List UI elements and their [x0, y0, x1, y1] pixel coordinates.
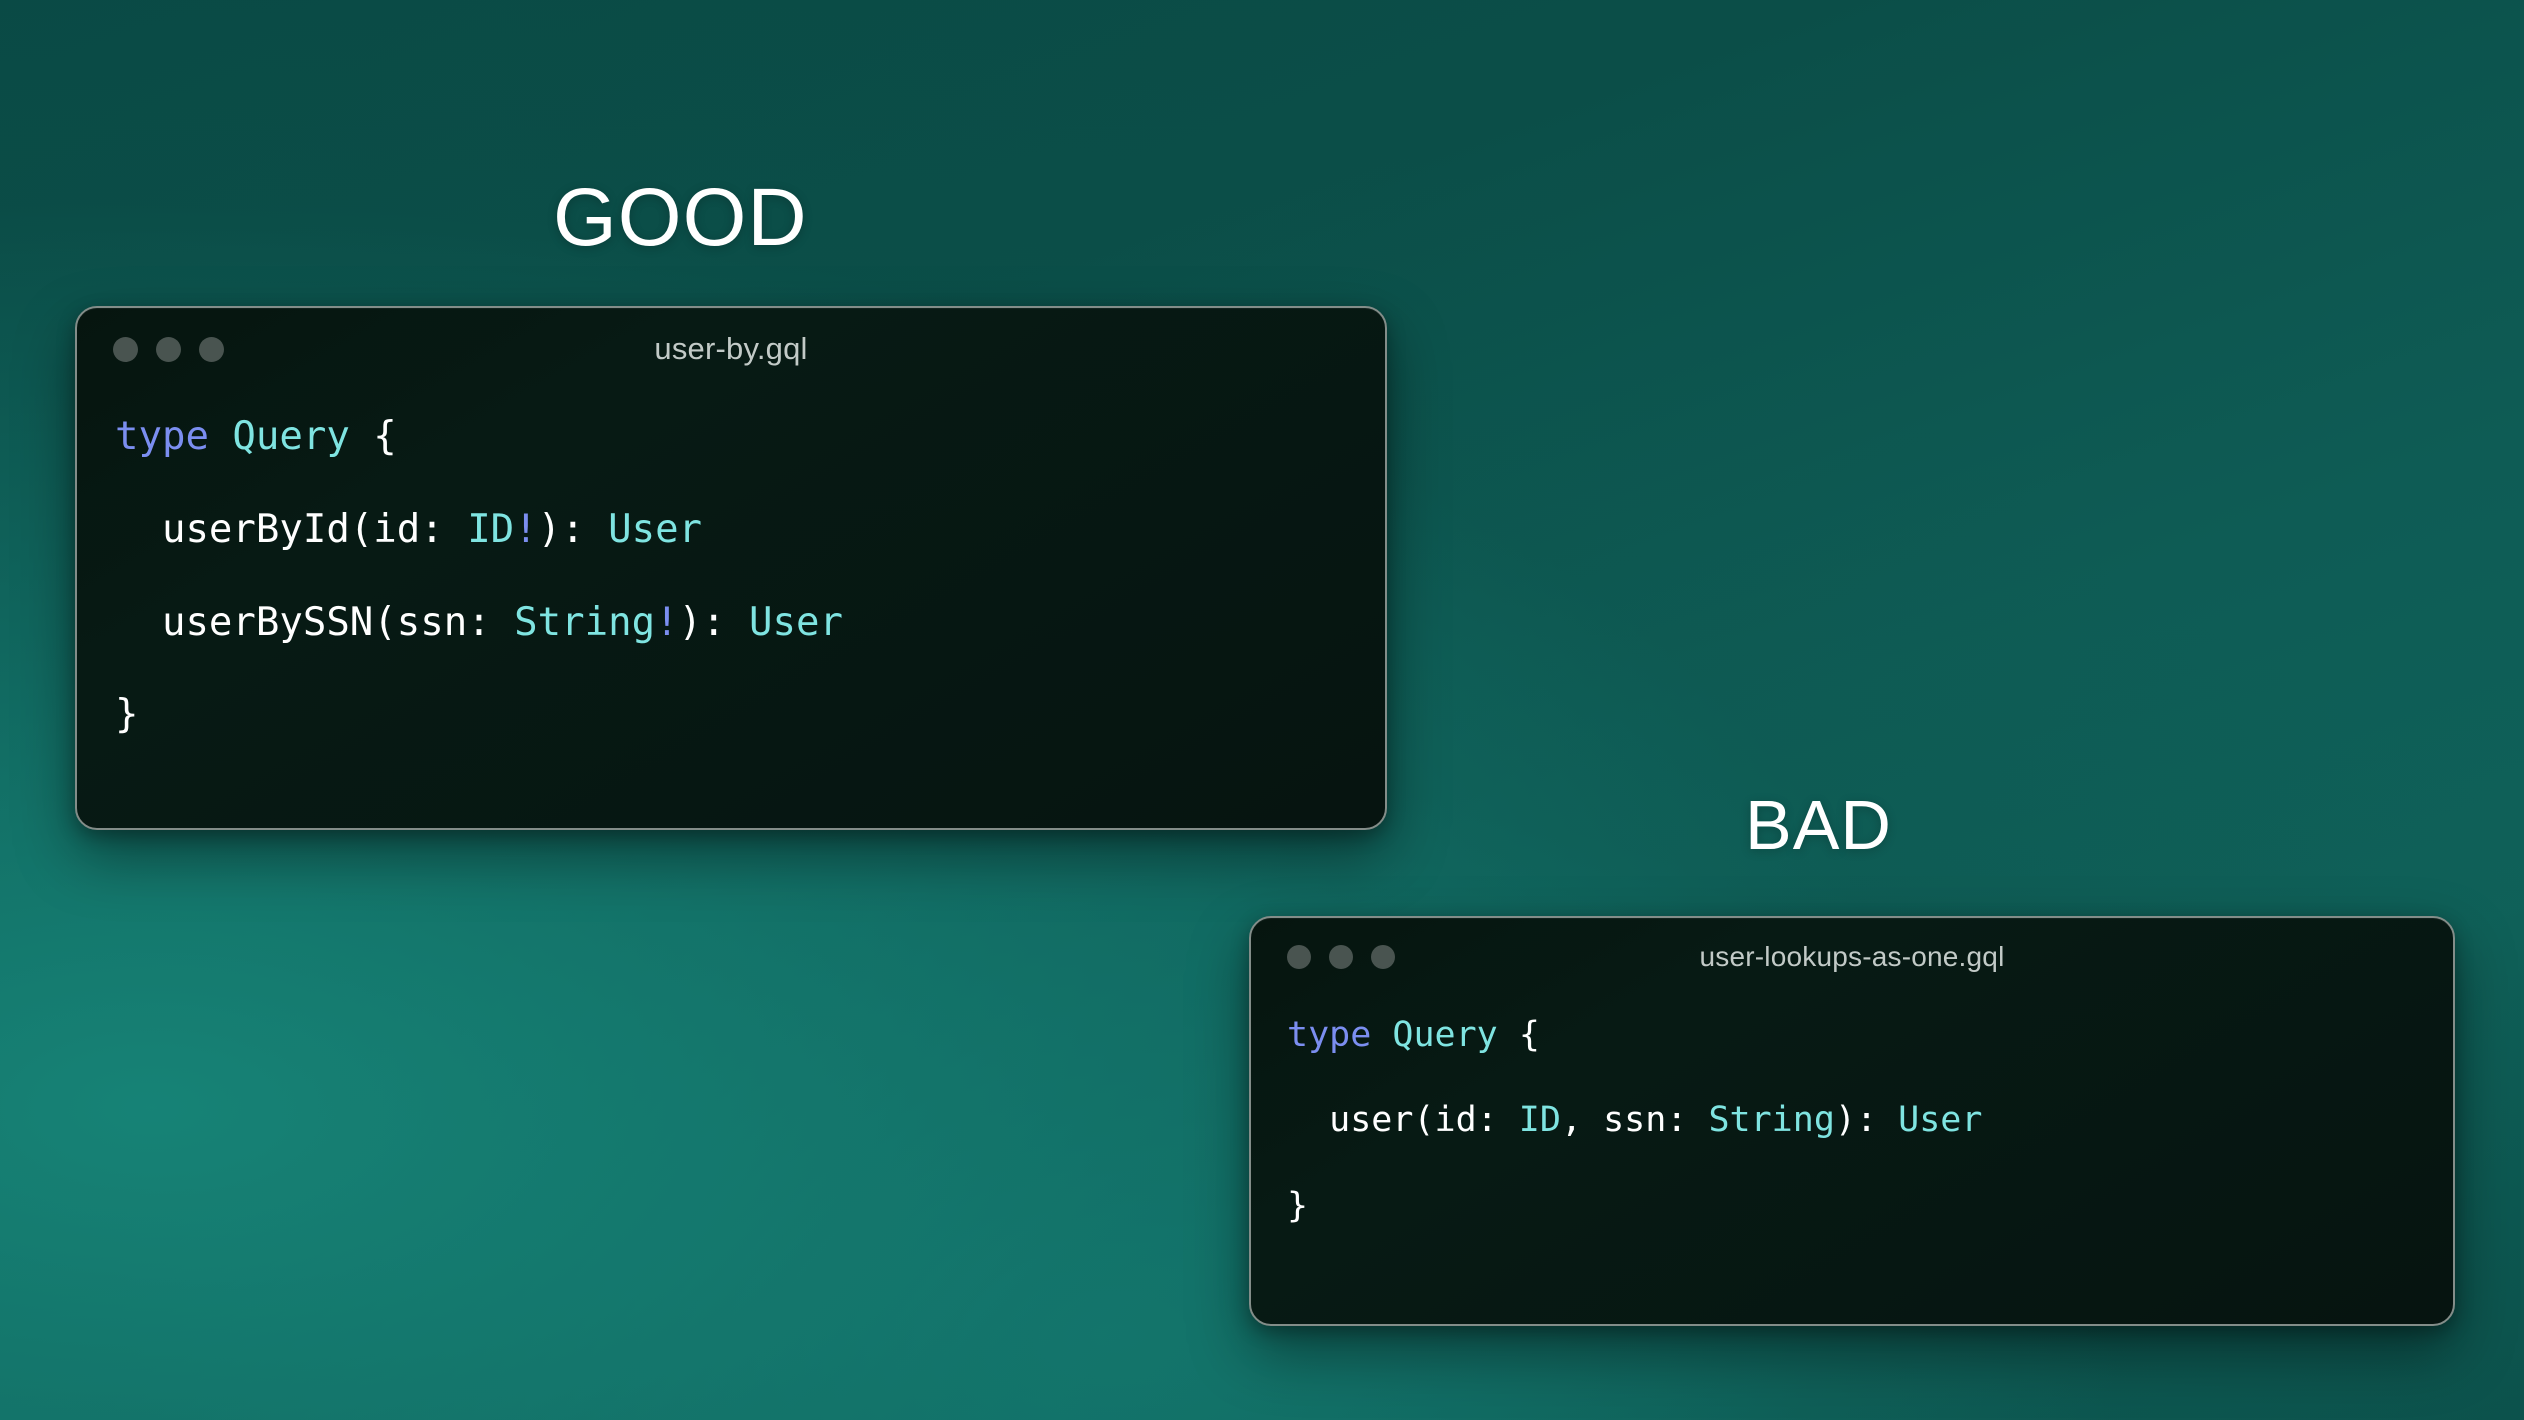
code-token-type: User	[608, 507, 702, 552]
code-token-punct: }	[1287, 1186, 1308, 1226]
window-title-bad: user-lookups-as-one.gql	[1251, 941, 2453, 973]
maximize-dot-icon[interactable]	[1371, 945, 1395, 969]
code-token-type: String	[514, 600, 655, 645]
code-token-plain: userBySSN(ssn:	[115, 600, 514, 645]
code-token-plain: user(id:	[1287, 1100, 1519, 1140]
code-token-punct: {	[373, 414, 396, 459]
code-token-plain: , ssn:	[1561, 1100, 1709, 1140]
section-label-bad: BAD	[1745, 790, 1892, 860]
code-token-bang: !	[655, 600, 678, 645]
code-token-plain	[1498, 1015, 1519, 1055]
code-block-bad: type Query { user(id: ID, ssn: String): …	[1251, 996, 2453, 1227]
code-line: user(id: ID, ssn: String): User	[1287, 1099, 2453, 1142]
code-token-plain	[1371, 1015, 1392, 1055]
code-line: type Query {	[1287, 1014, 2453, 1057]
code-line: userById(id: ID!): User	[115, 507, 1385, 553]
code-token-plain	[350, 414, 373, 459]
code-token-type: ID	[1519, 1100, 1561, 1140]
code-token-plain: ):	[538, 507, 608, 552]
code-window-bad: user-lookups-as-one.gql type Query { use…	[1249, 916, 2455, 1326]
code-token-type: String	[1708, 1100, 1834, 1140]
code-token-type: ID	[467, 507, 514, 552]
code-token-bang: !	[514, 507, 537, 552]
code-token-plain: ):	[1835, 1100, 1898, 1140]
window-titlebar: user-by.gql	[77, 308, 1385, 390]
code-token-type: Query	[1392, 1015, 1497, 1055]
section-label-good: GOOD	[553, 177, 808, 259]
traffic-lights-group	[113, 337, 224, 362]
window-title-good: user-by.gql	[77, 331, 1385, 367]
code-token-keyword: type	[1287, 1015, 1371, 1055]
window-titlebar: user-lookups-as-one.gql	[1251, 918, 2453, 996]
minimize-dot-icon[interactable]	[1329, 945, 1353, 969]
code-token-type: User	[749, 600, 843, 645]
traffic-lights-group	[1287, 945, 1395, 969]
code-line: }	[115, 692, 1385, 738]
code-token-keyword: type	[115, 414, 209, 459]
code-token-plain	[209, 414, 232, 459]
code-block-good: type Query { userById(id: ID!): User use…	[77, 390, 1385, 739]
code-token-punct: {	[1519, 1015, 1540, 1055]
slide-canvas: GOOD user-by.gql type Query { userById(i…	[0, 0, 2524, 1420]
code-token-plain: userById(id:	[115, 507, 467, 552]
code-token-type: Query	[232, 414, 349, 459]
close-dot-icon[interactable]	[1287, 945, 1311, 969]
code-line: }	[1287, 1185, 2453, 1228]
close-dot-icon[interactable]	[113, 337, 138, 362]
code-token-punct: }	[115, 692, 138, 737]
code-line: type Query {	[115, 414, 1385, 460]
code-token-plain: ):	[679, 600, 749, 645]
code-window-good: user-by.gql type Query { userById(id: ID…	[75, 306, 1387, 830]
maximize-dot-icon[interactable]	[199, 337, 224, 362]
minimize-dot-icon[interactable]	[156, 337, 181, 362]
code-token-type: User	[1898, 1100, 1982, 1140]
code-line: userBySSN(ssn: String!): User	[115, 600, 1385, 646]
